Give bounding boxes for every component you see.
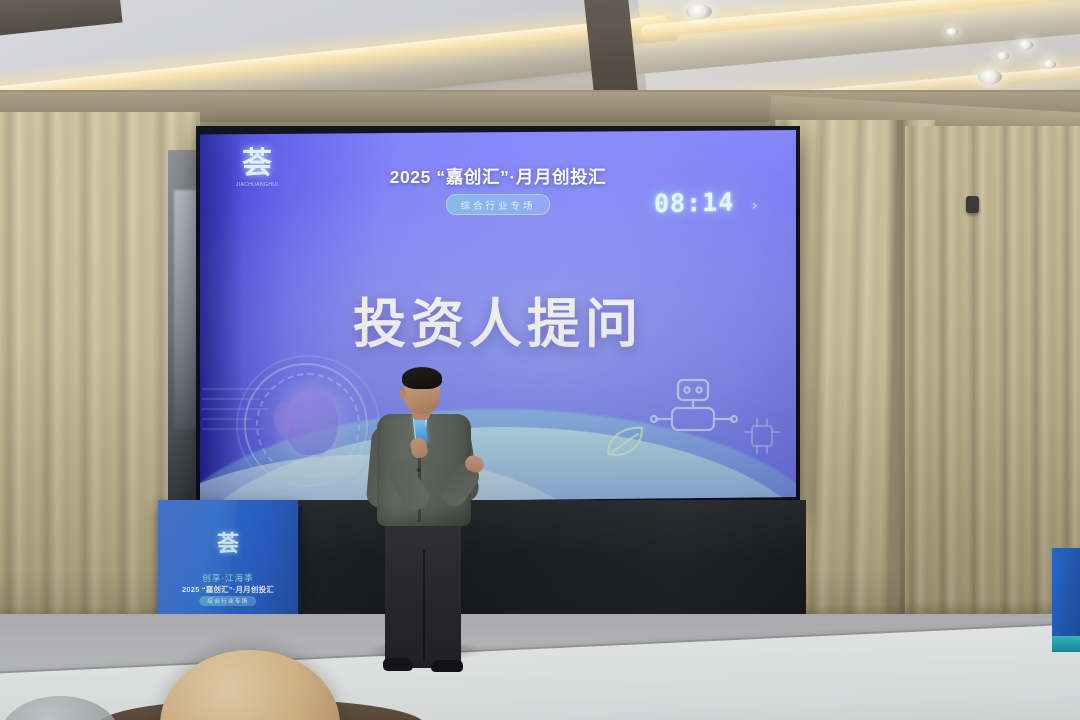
speaker-hair [402, 367, 442, 389]
downlight-icon [1042, 60, 1056, 69]
podium-line-1: 创享·江海季 [158, 572, 298, 584]
downlight-icon [996, 52, 1009, 60]
right-side-panel-accent [1052, 636, 1080, 652]
downlight-icon [1018, 40, 1033, 50]
downlight-icon [686, 4, 712, 19]
speaker-ear [399, 388, 406, 399]
podium-logo-mark: 荟 [158, 526, 298, 558]
ceiling-camera-icon [966, 196, 979, 213]
downlight-icon [978, 70, 1002, 84]
downlight-icon [946, 28, 958, 36]
speaker [355, 372, 515, 672]
podium-badge: 综合行业专场 [199, 596, 256, 606]
speaker-shoe-right [431, 660, 463, 672]
podium-line-2: 2025 “嘉创汇”·月月创投汇 [158, 584, 298, 595]
speaker-button [417, 468, 421, 472]
conference-stage-photo: 荟 JIACHUANGHUI 2025 “嘉创汇”·月月创投汇 综合行业专场 0… [0, 0, 1080, 720]
speaker-shoe-left [383, 658, 413, 671]
speaker-trousers [385, 512, 461, 668]
